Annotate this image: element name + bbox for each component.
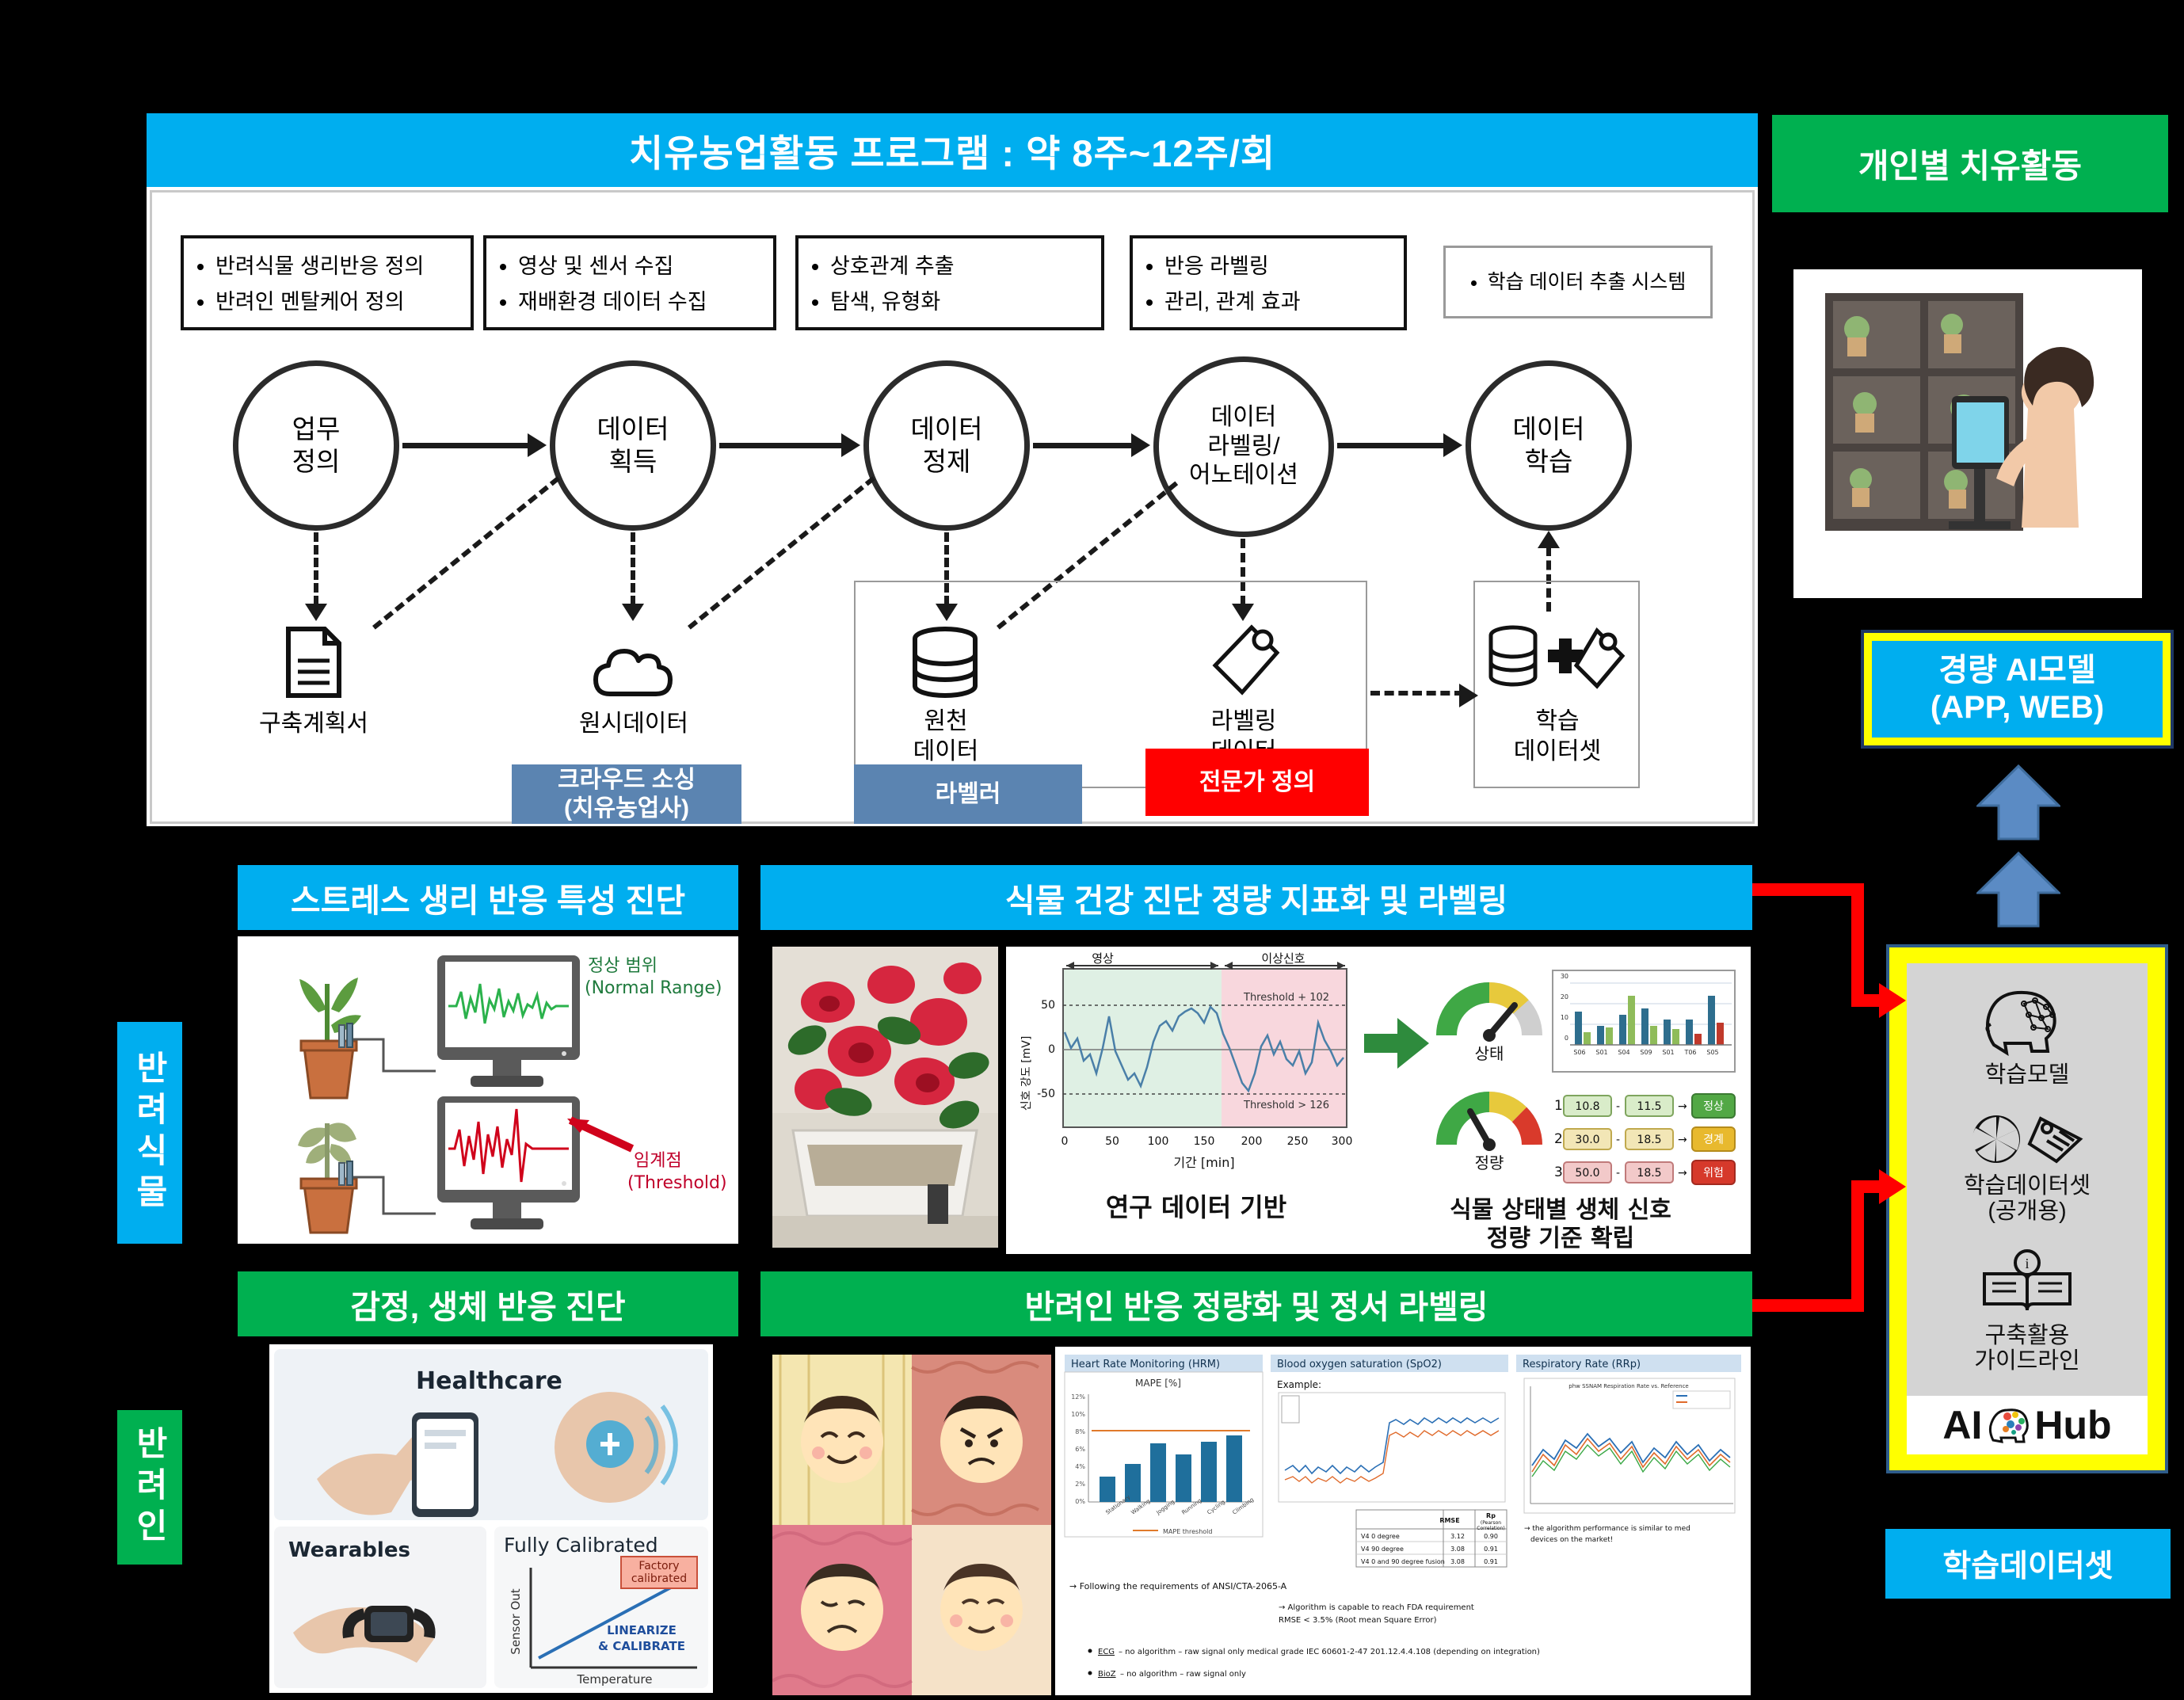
dash-to-trainingset-head: [1459, 684, 1478, 707]
svg-text:→: →: [1678, 1167, 1687, 1180]
svg-text:→ the algorithm performance is: → the algorithm performance is similar t…: [1524, 1525, 1690, 1533]
node-line: 데이터: [1189, 403, 1298, 433]
node-data-training[interactable]: 데이터 학습: [1466, 360, 1632, 531]
spec-box-4: 반응 라벨링 관리, 관계 효과: [1130, 235, 1407, 330]
side-tag-human: 반려인: [117, 1410, 182, 1565]
svg-text:i: i: [2025, 1256, 2029, 1271]
svg-text:Correlation): Correlation): [1477, 1526, 1504, 1531]
flow-arrow-head-1: [528, 433, 547, 457]
document-icon: [285, 626, 342, 699]
aihub-item-label: (공개용): [1964, 1199, 2091, 1224]
tag-icon: [1204, 623, 1282, 700]
svg-text:RMSE < 3.5% (Root mean Square: RMSE < 3.5% (Root mean Square Error): [1279, 1616, 1437, 1625]
shutter-tag-icon: [1968, 1112, 2087, 1168]
aihub-inner: 학습모델 학습데이터셋 (공개용) i: [1907, 963, 2148, 1454]
svg-text:2%: 2%: [1075, 1481, 1085, 1488]
svg-text:Respiratory Rate (RRp): Respiratory Rate (RRp): [1523, 1359, 1641, 1370]
stress-panel: 정상 범위 (Normal Range) 임계점 (Threshold: [238, 936, 738, 1244]
flow-arrow-2: [719, 443, 843, 448]
aihub-logo-left: AI: [1942, 1402, 1982, 1448]
svg-text:Factory: Factory: [638, 1560, 679, 1572]
svg-text:→: →: [1678, 1100, 1687, 1113]
database-icon: [911, 626, 979, 699]
artifact-label-line: 학습: [1475, 707, 1640, 737]
svg-text:10.8: 10.8: [1575, 1100, 1599, 1113]
svg-text:T06: T06: [1683, 1049, 1696, 1056]
svg-text:영상: 영상: [1092, 951, 1114, 966]
role-line: 크라우드 소싱: [558, 766, 696, 795]
svg-text:150: 150: [1194, 1135, 1215, 1148]
dash-down-head-2: [622, 604, 644, 621]
svg-text:Fully Calibrated: Fully Calibrated: [504, 1534, 658, 1557]
role-line: 라벨러: [936, 780, 1001, 809]
spec-item: 상호관계 추출: [830, 250, 1090, 284]
flow-arrow-3: [1033, 443, 1133, 448]
side-tag-plant: 반려식물: [117, 1022, 182, 1244]
svg-text:정상 범위: 정상 범위: [588, 956, 657, 976]
program-title-bar: 치유농업활동 프로그램 : 약 8주~12주/회: [147, 113, 1758, 187]
ai-model-line: (APP, WEB): [1931, 689, 2104, 726]
node-line: 어노테이션: [1189, 461, 1298, 490]
dash-down-1: [314, 532, 318, 605]
flow-arrow-head-3: [1131, 433, 1150, 457]
database-plus-tag-icon: [1486, 623, 1627, 700]
aihub-logo-right: Hub: [2034, 1402, 2111, 1448]
svg-text:RMSE: RMSE: [1439, 1517, 1459, 1524]
role-labeler: 라벨러: [854, 764, 1082, 824]
red-connector-top-v: [1851, 883, 1864, 1006]
flow-arrow-1: [402, 443, 529, 448]
svg-text:MAPE threshold: MAPE threshold: [1163, 1528, 1212, 1535]
ai-model-line: 경량 AI모델: [1931, 652, 2104, 689]
section-header-human-response: 반려인 반응 정량화 및 정서 라벨링: [760, 1271, 1752, 1336]
spec-item: 탐색, 유형화: [830, 286, 1090, 319]
svg-text:V4 0 degree: V4 0 degree: [1361, 1533, 1400, 1540]
svg-text:S04: S04: [1618, 1049, 1629, 1056]
svg-text:정상: 정상: [1703, 1100, 1724, 1113]
artifact-label-source: 원천 데이터: [863, 707, 1028, 766]
svg-text:S06: S06: [1573, 1049, 1585, 1056]
spec-box-5: 학습 데이터 추출 시스템: [1443, 246, 1713, 318]
aihub-item-guideline: i 구축활용 가이드라인: [1974, 1248, 2079, 1374]
spec-box-2: 영상 및 센서 수집 재배환경 데이터 수집: [483, 235, 776, 330]
spec-item: 반응 라벨링: [1164, 250, 1393, 284]
svg-text:S01: S01: [1662, 1049, 1674, 1056]
svg-text:(Pearson: (Pearson: [1481, 1520, 1501, 1526]
node-line: 데이터: [910, 414, 982, 445]
svg-text:-: -: [1616, 1134, 1620, 1146]
svg-text:50.0: 50.0: [1575, 1167, 1599, 1180]
flow-arrow-4: [1337, 443, 1445, 448]
svg-text:0.91: 0.91: [1484, 1546, 1498, 1553]
red-connector-bottom-v: [1851, 1180, 1864, 1312]
aihub-item-label: 학습데이터셋: [1964, 1173, 2091, 1199]
svg-text:상태: 상태: [1475, 1044, 1504, 1063]
svg-text:30.0: 30.0: [1575, 1134, 1599, 1146]
svg-text:V4 90 degree: V4 90 degree: [1361, 1546, 1404, 1553]
svg-text:4%: 4%: [1075, 1463, 1085, 1470]
artifact-label-line: 데이터: [863, 737, 1028, 767]
node-data-labeling[interactable]: 데이터 라벨링/ 어노테이션: [1153, 356, 1334, 537]
svg-text:-: -: [1616, 1167, 1620, 1180]
personal-activity-photo: [1793, 269, 2142, 598]
red-connector-top-h: [1747, 883, 1864, 896]
svg-text:위험: 위험: [1703, 1167, 1724, 1180]
svg-text:3: 3: [1554, 1164, 1563, 1180]
svg-text:BioZ: BioZ: [1098, 1670, 1116, 1679]
svg-text:1: 1: [1554, 1098, 1563, 1114]
spec-item: 재배환경 데이터 수집: [518, 286, 762, 319]
dash-to-trainingset: [1370, 691, 1464, 696]
brain-head-icon: [1980, 985, 2075, 1056]
svg-text:Threshold > 126: Threshold > 126: [1243, 1100, 1329, 1111]
node-line: 데이터: [1512, 414, 1584, 445]
role-crowdsourcing: 크라우드 소싱 (치유농업사): [512, 764, 741, 824]
node-line: 학습: [1512, 446, 1584, 478]
svg-text:phw SSNAM Respiration Rate vs.: phw SSNAM Respiration Rate vs. Reference: [1568, 1383, 1688, 1389]
ai-model-box: 경량 AI모델 (APP, WEB): [1861, 630, 2174, 749]
svg-text:식물 상태별 생체 신호: 식물 상태별 생체 신호: [1450, 1196, 1671, 1224]
svg-text:devices on the market!: devices on the market!: [1530, 1536, 1613, 1544]
svg-text:Wearables: Wearables: [288, 1538, 410, 1562]
svg-text:0: 0: [1048, 1043, 1055, 1056]
svg-text:ECG: ECG: [1098, 1648, 1115, 1656]
svg-text:→: →: [1678, 1134, 1687, 1146]
colorful-brain-head-icon: [1987, 1405, 2030, 1445]
svg-text:S01: S01: [1595, 1049, 1607, 1056]
spec-item: 반려인 멘탈케어 정의: [215, 286, 459, 319]
svg-text:Threshold + 102: Threshold + 102: [1243, 992, 1329, 1004]
svg-text:6%: 6%: [1075, 1446, 1085, 1453]
svg-text:S05: S05: [1706, 1049, 1718, 1056]
svg-text:Sensor Out: Sensor Out: [509, 1588, 523, 1654]
svg-text:& CALIBRATE: & CALIBRATE: [598, 1639, 685, 1653]
spec-box-3: 상호관계 추출 탐색, 유형화: [795, 235, 1104, 330]
svg-text:20: 20: [1561, 993, 1568, 1001]
aihub-box: 학습모델 학습데이터셋 (공개용) i: [1886, 944, 2168, 1473]
svg-text:임계점: 임계점: [634, 1151, 682, 1171]
red-connector-top-head: [1879, 983, 1906, 1018]
svg-text:0%: 0%: [1075, 1498, 1085, 1505]
svg-text:Blood oxygen saturation (SpO2): Blood oxygen saturation (SpO2): [1277, 1359, 1442, 1370]
red-connector-bottom-head: [1879, 1169, 1906, 1204]
svg-text:V4 0 and 90 degree fusion: V4 0 and 90 degree fusion: [1361, 1558, 1445, 1565]
node-task-definition[interactable]: 업무 정의: [233, 360, 399, 531]
svg-text:연구 데이터 기반: 연구 데이터 기반: [1106, 1192, 1286, 1222]
section-header-plant-health: 식물 건강 진단 정량 지표화 및 라벨링: [760, 865, 1752, 930]
svg-text:3.08: 3.08: [1450, 1558, 1465, 1565]
svg-text:(Threshold): (Threshold): [627, 1173, 727, 1193]
svg-text:Temperature: Temperature: [576, 1672, 652, 1687]
svg-text:0: 0: [1062, 1135, 1069, 1148]
node-line: 데이터: [597, 414, 669, 445]
svg-text:100: 100: [1148, 1135, 1169, 1148]
svg-text:18.5: 18.5: [1637, 1167, 1661, 1180]
svg-text:기간 [min]: 기간 [min]: [1173, 1155, 1234, 1170]
artifact-label-line: 라벨링: [1161, 707, 1326, 737]
artifact-label-plan: 구축계획서: [227, 709, 401, 739]
svg-text:LINEARIZE: LINEARIZE: [607, 1623, 677, 1637]
personal-activity-banner: 개인별 치유활동: [1772, 115, 2168, 212]
blue-up-arrow-top: [1976, 764, 2060, 840]
spec-item: 학습 데이터 추출 시스템: [1488, 267, 1687, 298]
svg-text:MAPE [%]: MAPE [%]: [1135, 1378, 1181, 1389]
dash-up-head-5: [1538, 531, 1560, 548]
svg-text:-: -: [1616, 1100, 1620, 1113]
svg-text:11.5: 11.5: [1637, 1100, 1661, 1113]
node-line: 정의: [292, 446, 341, 478]
cloud-icon: [593, 638, 675, 699]
svg-text:정량: 정량: [1475, 1153, 1504, 1172]
svg-text:0: 0: [1565, 1035, 1568, 1042]
svg-text:신호 강도 [mV]: 신호 강도 [mV]: [1020, 1036, 1033, 1111]
svg-text:calibrated: calibrated: [631, 1572, 687, 1585]
artifact-label-line: 데이터셋: [1475, 737, 1640, 767]
aihub-item-model: 학습모델: [1980, 985, 2075, 1088]
svg-text:10: 10: [1561, 1014, 1568, 1021]
svg-text:0.91: 0.91: [1484, 1558, 1498, 1565]
dash-down-2: [631, 532, 635, 605]
node-line: 라벨링/: [1189, 433, 1298, 462]
svg-text:300: 300: [1332, 1135, 1353, 1148]
svg-text:8%: 8%: [1075, 1428, 1085, 1435]
ai-model-inner: 경량 AI모델 (APP, WEB): [1872, 641, 2163, 738]
dataset-tag: 학습데이터셋: [1885, 1529, 2171, 1599]
aihub-item-label: 구축활용: [1974, 1323, 2079, 1348]
spec-item: 영상 및 센서 수집: [518, 250, 762, 284]
svg-text:30: 30: [1561, 973, 1568, 980]
section-header-emotion: 감정, 생체 반응 진단: [238, 1271, 738, 1336]
emotion-panel: Healthcare Wearables Fully Calibrated Se…: [269, 1344, 713, 1693]
dash-down-head-1: [305, 604, 327, 621]
flow-arrow-head-4: [1443, 433, 1462, 457]
svg-text:2: 2: [1554, 1131, 1563, 1147]
human-response-report: Heart Rate Monitoring (HRM) MAPE [%] 12%…: [1055, 1347, 1751, 1695]
svg-text:0.90: 0.90: [1484, 1533, 1498, 1540]
red-connector-bottom-h: [1747, 1299, 1864, 1312]
role-expert: 전문가 정의: [1145, 749, 1369, 816]
svg-text:Example:: Example:: [1277, 1379, 1321, 1390]
svg-text:3.12: 3.12: [1450, 1533, 1465, 1540]
artifact-label-trainingset: 학습 데이터셋: [1475, 707, 1640, 766]
svg-text:10%: 10%: [1071, 1411, 1085, 1418]
emotion-faces-panel: [772, 1355, 1051, 1695]
aihub-item-label: 학습모델: [1980, 1062, 2075, 1088]
svg-text:50: 50: [1105, 1135, 1119, 1148]
aihub-icon-stack: 학습모델 학습데이터셋 (공개용) i: [1907, 963, 2148, 1396]
svg-text:→ Algorithm is capable to reac: → Algorithm is capable to reach FDA requ…: [1279, 1603, 1474, 1612]
node-line: 획득: [597, 446, 669, 478]
svg-text:3.08: 3.08: [1450, 1546, 1465, 1553]
svg-text:→ Following the requirements o: → Following the requirements of ANSI/CTA…: [1069, 1581, 1287, 1591]
svg-text:200: 200: [1241, 1135, 1263, 1148]
svg-text:S09: S09: [1640, 1049, 1652, 1056]
node-line: 정제: [910, 446, 982, 478]
svg-text:– no algorithm – raw signal on: – no algorithm – raw signal only medical…: [1119, 1648, 1540, 1656]
svg-text:경계: 경계: [1703, 1134, 1724, 1146]
svg-text:12%: 12%: [1071, 1393, 1085, 1401]
open-book-info-icon: i: [1980, 1248, 2075, 1317]
spec-box-1: 반려식물 생리반응 정의 반려인 멘탈케어 정의: [181, 235, 474, 330]
svg-text:(Normal Range): (Normal Range): [585, 978, 722, 998]
spec-item: 관리, 관계 효과: [1164, 286, 1393, 319]
svg-text:정량 기준 확립: 정량 기준 확립: [1487, 1225, 1635, 1252]
flow-arrow-head-2: [841, 433, 860, 457]
svg-text:Heart Rate Monitoring (HRM): Heart Rate Monitoring (HRM): [1071, 1359, 1220, 1370]
svg-text:-50: -50: [1037, 1088, 1055, 1100]
blue-up-arrow-bottom: [1976, 852, 2060, 928]
aihub-logo: AI Hub: [1942, 1396, 2111, 1454]
svg-text:50: 50: [1041, 999, 1055, 1012]
svg-text:18.5: 18.5: [1637, 1134, 1661, 1146]
svg-text:이상신호: 이상신호: [1261, 951, 1305, 966]
plant-health-chart-panel: 영상 이상신호 Threshold + 102 Threshold > 126 …: [1006, 947, 1751, 1254]
plant-photo: [772, 947, 998, 1248]
spec-item: 반려식물 생리반응 정의: [215, 250, 459, 284]
node-data-cleansing[interactable]: 데이터 정제: [863, 360, 1030, 531]
aihub-item-label: 가이드라인: [1974, 1348, 2079, 1374]
aihub-item-dataset: 학습데이터셋 (공개용): [1964, 1112, 2091, 1225]
svg-text:250: 250: [1287, 1135, 1309, 1148]
artifact-label-raw: 원시데이터: [547, 709, 721, 739]
svg-text:Rp: Rp: [1486, 1512, 1496, 1519]
svg-text:– no algorithm – raw signal on: – no algorithm – raw signal only: [1120, 1670, 1246, 1679]
node-data-acquisition[interactable]: 데이터 획득: [550, 360, 716, 531]
node-line: 업무: [292, 414, 341, 445]
role-line: 전문가 정의: [1199, 768, 1315, 797]
section-header-stress: 스트레스 생리 반응 특성 진단: [238, 865, 738, 930]
svg-text:Healthcare: Healthcare: [416, 1367, 562, 1395]
role-line: (치유농업사): [558, 795, 696, 823]
artifact-label-line: 원천: [863, 707, 1028, 737]
